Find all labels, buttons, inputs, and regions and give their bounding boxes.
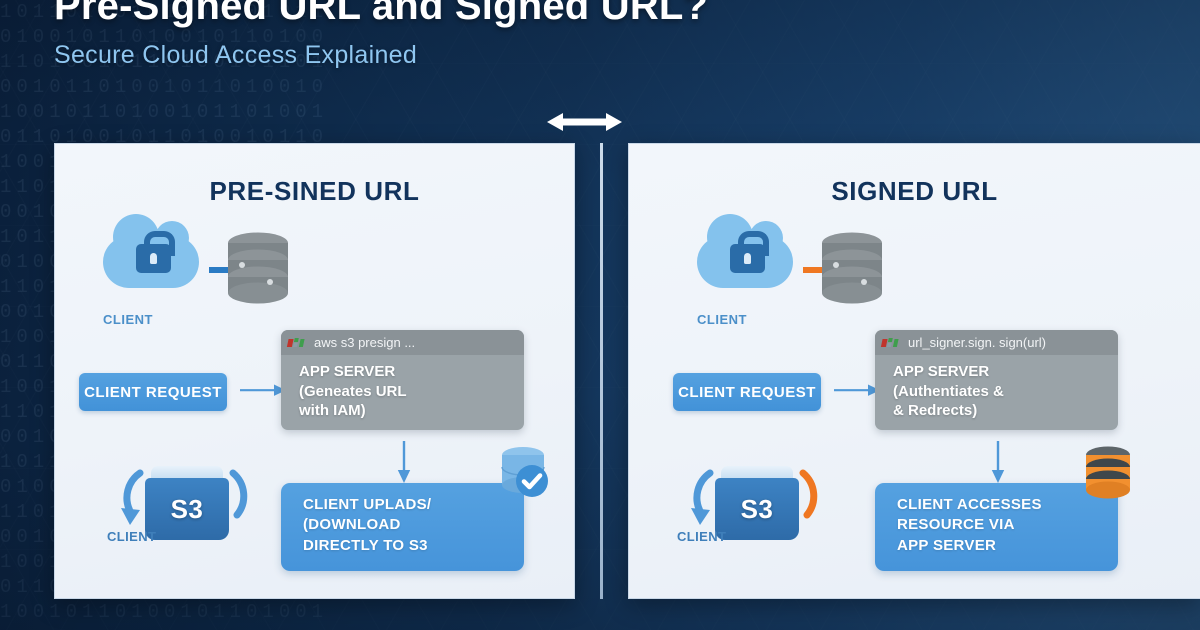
outcome-line-2: RESOURCE VIA	[897, 515, 1118, 535]
outcome-line-3: DIRECTLY TO S3	[303, 536, 524, 556]
database-check-icon	[500, 445, 556, 503]
app-server-command-text: aws s3 presign ...	[314, 335, 415, 350]
s3-bucket-label: S3	[741, 494, 774, 525]
s3-bucket-icon: S3	[715, 466, 799, 540]
s3-bucket-body: S3	[715, 478, 799, 540]
app-server-body: APP SERVER (Authentiates & & Redrects)	[875, 355, 1118, 421]
page-title: Pre-Signed URL and Signed URL?	[54, 0, 708, 29]
app-server-line-1: APP SERVER	[299, 362, 524, 382]
compare-double-arrow-icon	[547, 110, 622, 134]
database-icon	[821, 232, 883, 304]
cloud-client-label: CLIENT	[697, 312, 747, 327]
request-to-server-arrow-icon	[834, 383, 880, 399]
lock-icon	[730, 244, 765, 273]
outcome-box-client-uploads: CLIENT UPLADS/ (DOWNLOAD DIRECTLY TO S3	[281, 483, 524, 571]
s3-bucket-label: S3	[171, 494, 204, 525]
app-server-line-2: (Authentiates &	[893, 382, 1118, 402]
app-server-body: APP SERVER (Geneates URL with IAM)	[281, 355, 524, 421]
database-orange-icon	[1084, 445, 1134, 501]
client-request-button[interactable]: CLIENT REQUEST	[79, 373, 227, 411]
app-server-card: aws s3 presign ... APP SERVER (Geneates …	[281, 330, 524, 430]
panel-signed-url: SIGNED URL CLIENT CLIENT REQUEST	[628, 143, 1200, 599]
cloud-with-lock-icon	[697, 222, 797, 296]
panel-divider	[600, 143, 603, 599]
app-server-titlebar: aws s3 presign ...	[281, 330, 524, 355]
cloud-client-label: CLIENT	[103, 312, 153, 327]
panel-title-signed: SIGNED URL	[629, 176, 1200, 207]
panel-title-pre-signed: PRE-SINED URL	[55, 176, 574, 207]
cloud-with-lock-icon	[103, 222, 203, 296]
s3-bucket-icon: S3	[145, 466, 229, 540]
outcome-line-2: (DOWNLOAD	[303, 515, 524, 535]
app-server-line-3: & Redrects)	[893, 401, 1118, 421]
app-server-line-1: APP SERVER	[893, 362, 1118, 382]
page-subtitle: Secure Cloud Access Explained	[54, 41, 708, 70]
database-icon	[227, 232, 289, 304]
s3-bucket-group: S3 CLIENT	[677, 457, 837, 549]
outcome-line-3: APP SERVER	[897, 536, 1118, 556]
s3-client-label: CLIENT	[107, 529, 156, 544]
app-server-command-text: url_signer.sign. sign(url)	[908, 335, 1046, 350]
client-request-button[interactable]: CLIENT REQUEST	[673, 373, 821, 411]
app-server-card: url_signer.sign. sign(url) APP SERVER (A…	[875, 330, 1118, 430]
s3-bucket-body: S3	[145, 478, 229, 540]
lock-icon	[136, 244, 171, 273]
request-to-server-arrow-icon	[240, 383, 286, 399]
app-server-line-2: (Geneates URL	[299, 382, 524, 402]
app-server-line-3: with IAM)	[299, 401, 524, 421]
s3-bucket-group: S3 CLIENT	[107, 457, 267, 549]
outcome-box-client-accesses: CLIENT ACCESSES RESOURCE VIA APP SERVER	[875, 483, 1118, 571]
panel-pre-signed-url: PRE-SINED URL CLIENT CLIENT REQUEST	[54, 143, 575, 599]
server-to-outcome-arrow-icon	[396, 441, 412, 483]
header: Pre-Signed URL and Signed URL? Secure Cl…	[54, 0, 708, 70]
s3-client-label: CLIENT	[677, 529, 726, 544]
app-server-titlebar: url_signer.sign. sign(url)	[875, 330, 1118, 355]
terminal-logo-icon	[883, 337, 901, 349]
server-to-outcome-arrow-icon	[990, 441, 1006, 483]
outcome-line-1: CLIENT UPLADS/	[303, 495, 524, 515]
terminal-logo-icon	[289, 337, 307, 349]
